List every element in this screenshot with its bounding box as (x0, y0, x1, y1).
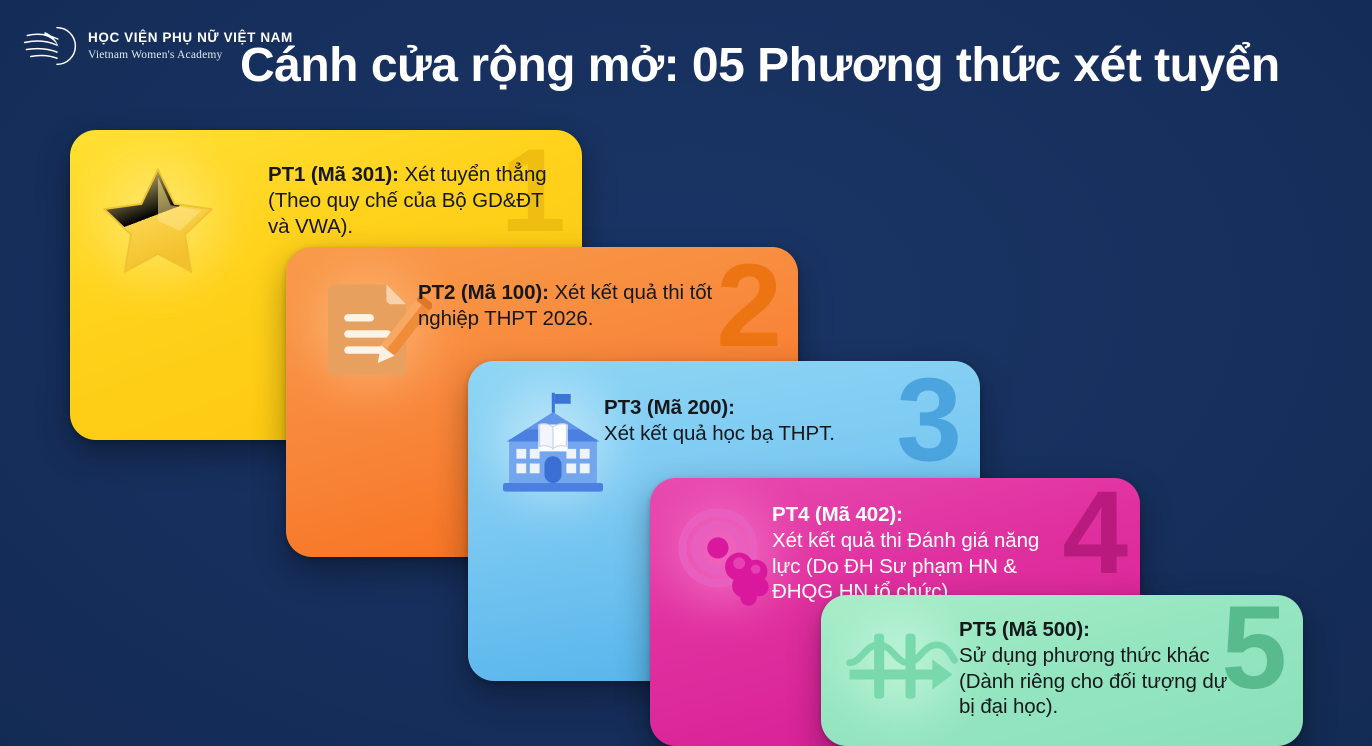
card-label-2: PT2 (Mã 100): (418, 281, 549, 304)
card-number-2: 2 (716, 257, 780, 356)
card-body-3: Xét kết quả học bạ THPT. (604, 422, 835, 445)
bridge-arrow-icon (843, 609, 959, 721)
card-text-2: PT2 (Mã 100): Xét kết quả thi tốt nghiệp… (418, 280, 718, 332)
card-text-1: PT1 (Mã 301): Xét tuyển thẳng (Theo quy … (268, 162, 568, 239)
card-text-4: PT4 (Mã 402):Xét kết quả thi Đánh giá nă… (772, 502, 1052, 605)
card-body-4: Xét kết quả thi Đánh giá năng lực (Do ĐH… (772, 529, 1039, 604)
card-label-4: PT4 (Mã 402): (772, 503, 903, 526)
card-label-5: PT5 (Mã 500): (959, 618, 1090, 641)
card-body-5: Sử dụng phương thức khác (Dành riêng cho… (959, 644, 1227, 719)
document-pencil-icon (306, 267, 432, 391)
card-label-1: PT1 (Mã 301): (268, 163, 399, 186)
method-card-5[interactable]: 5 PT5 (Mã 500):Sử dụng phương thức khác … (821, 595, 1303, 746)
star-icon (92, 154, 224, 282)
card-number-3: 3 (896, 371, 960, 470)
card-text-5: PT5 (Mã 500):Sử dụng phương thức khác (D… (959, 617, 1231, 720)
card-number-4: 4 (1062, 484, 1126, 583)
infographic-slide: HỌC VIỆN PHỤ NỮ VIỆT NAM Vietnam Women's… (0, 0, 1372, 746)
card-label-3: PT3 (Mã 200): (604, 396, 735, 419)
bird-wing-logo-icon (22, 24, 78, 68)
page-title: Cánh cửa rộng mở: 05 Phương thức xét tuy… (240, 38, 1340, 93)
target-brain-icon (666, 496, 784, 614)
slide-header: HỌC VIỆN PHỤ NỮ VIỆT NAM Vietnam Women's… (0, 0, 1372, 120)
card-text-3: PT3 (Mã 200):Xét kết quả học bạ THPT. (604, 395, 904, 447)
school-building-icon (490, 383, 616, 505)
